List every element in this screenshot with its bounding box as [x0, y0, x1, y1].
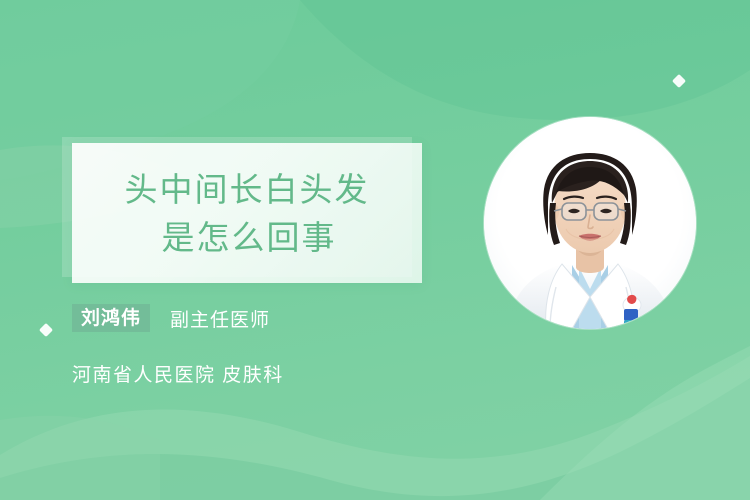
diamond-icon	[672, 74, 686, 88]
title-line-2: 是怎么回事	[158, 217, 337, 259]
page-title: 头中间长白头发 是怎么回事	[72, 150, 422, 278]
doctor-hospital-department: 河南省人民医院 皮肤科	[72, 360, 284, 387]
doctor-avatar	[484, 117, 696, 329]
doctor-portrait-illustration	[484, 117, 696, 329]
doctor-job-title: 副主任医师	[170, 305, 270, 332]
doctor-intro-card: 头中间长白头发 是怎么回事 刘鸿伟 副主任医师 河南省人民医院 皮肤科	[0, 0, 750, 500]
doctor-identity-row: 刘鸿伟 副主任医师	[72, 303, 270, 333]
doctor-name-badge: 刘鸿伟	[72, 304, 150, 332]
diamond-icon	[39, 323, 53, 337]
title-line-1: 头中间长白头发	[125, 169, 370, 211]
